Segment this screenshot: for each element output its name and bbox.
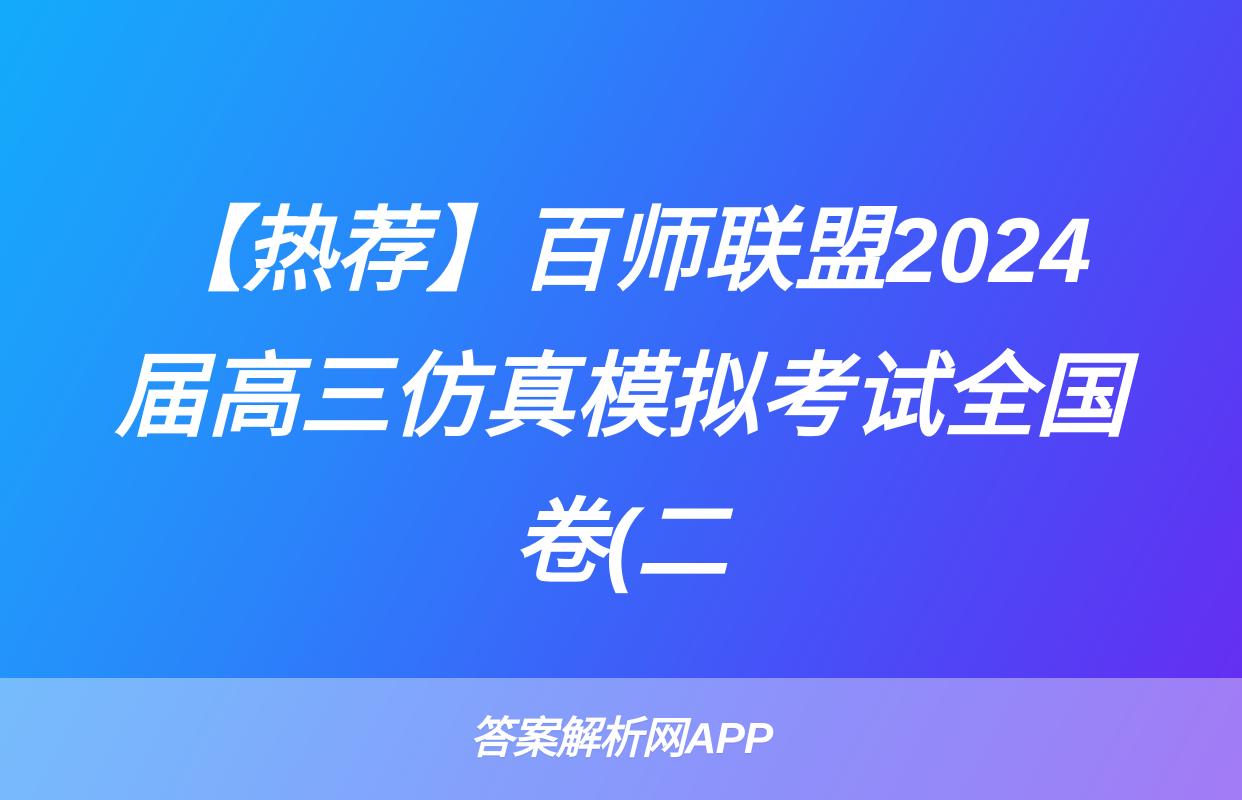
- poster-canvas: 【热荐】百师联盟2024 届高三仿真模拟考试全国 卷(二 答案解析网APP: [0, 0, 1242, 800]
- title-line-2: 届高三仿真模拟考试全国: [0, 324, 1242, 470]
- title-line-3: 卷(二: [0, 470, 1242, 616]
- page-title: 【热荐】百师联盟2024 届高三仿真模拟考试全国 卷(二: [0, 178, 1242, 616]
- brand-watermark-label: 答案解析网APP: [470, 717, 772, 761]
- brand-watermark-band: 答案解析网APP: [0, 678, 1242, 800]
- title-line-1: 【热荐】百师联盟2024: [0, 178, 1242, 324]
